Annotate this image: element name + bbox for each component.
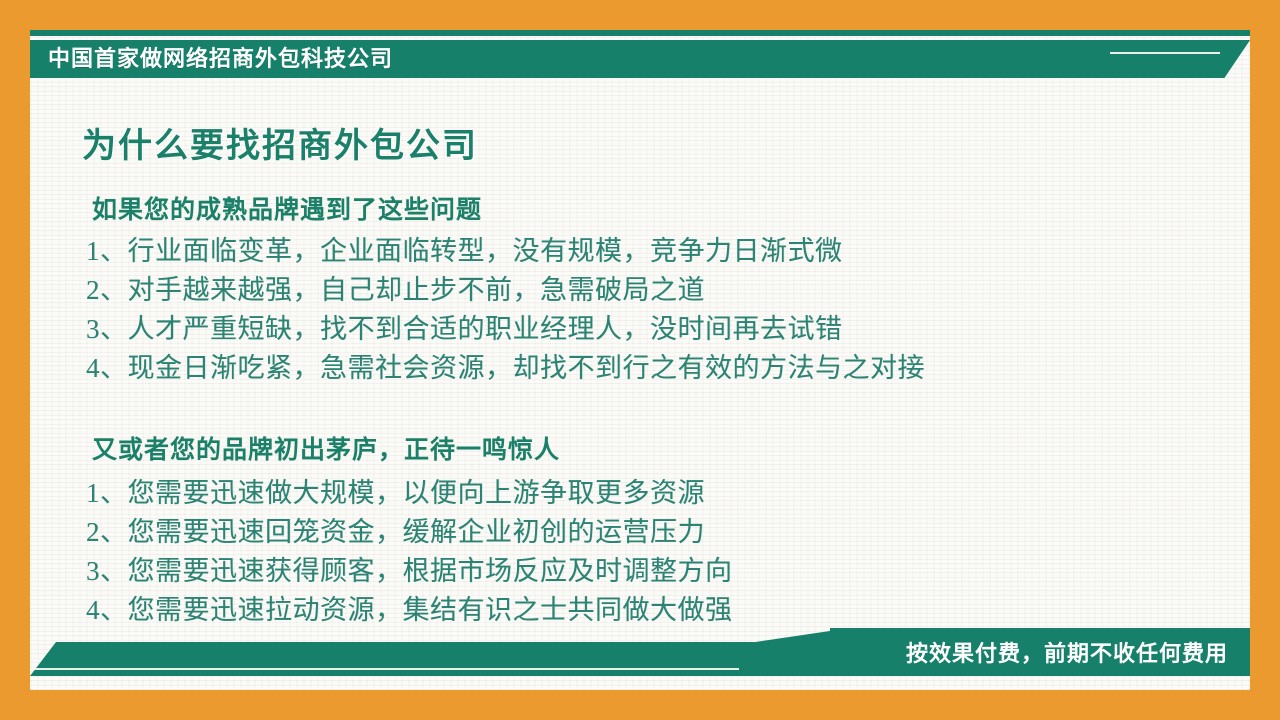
list-item: 1、行业面临变革，企业面临转型，没有规模，竞争力日渐式微	[86, 232, 925, 271]
list-item: 4、现金日渐吃紧，急需社会资源，却找不到行之有效的方法与之对接	[86, 349, 925, 388]
header-main-bar-slant	[1170, 40, 1250, 78]
section-heading-mature-brand: 如果您的成熟品牌遇到了这些问题	[92, 190, 482, 226]
list-item: 1、您需要迅速做大规模，以便向上游争取更多资源	[86, 474, 733, 513]
footer-tagline-text: 按效果付费，前期不收任何费用	[906, 636, 1228, 668]
list-item: 2、您需要迅速回笼资金，缓解企业初创的运营压力	[86, 513, 733, 552]
content-panel: 中国首家做网络招商外包科技公司 为什么要找招商外包公司 如果您的成熟品牌遇到了这…	[30, 30, 1250, 690]
company-badge-text: 中国首家做网络招商外包科技公司	[48, 39, 393, 79]
header-thin-stripe-slant	[1180, 30, 1250, 36]
header-banner: 中国首家做网络招商外包科技公司	[30, 30, 1250, 92]
list-item: 3、您需要迅速获得顾客，根据市场反应及时调整方向	[86, 552, 733, 591]
problem-list-mature-brand: 1、行业面临变革，企业面临转型，没有规模，竞争力日渐式微 2、对手越来越强，自己…	[86, 232, 925, 388]
list-item: 4、您需要迅速拉动资源，集结有识之士共同做大做强	[86, 591, 733, 630]
list-item: 3、人才严重短缺，找不到合适的职业经理人，没时间再去试错	[86, 310, 925, 349]
header-thin-stripe	[30, 30, 1250, 36]
footer-banner: 按效果付费，前期不收任何费用	[30, 628, 1250, 690]
page-title: 为什么要找招商外包公司	[82, 118, 478, 167]
section-heading-new-brand: 又或者您的品牌初出茅庐，正待一鸣惊人	[92, 430, 560, 466]
slide-root: 中国首家做网络招商外包科技公司 为什么要找招商外包公司 如果您的成熟品牌遇到了这…	[0, 0, 1280, 720]
footer-accent-line	[34, 668, 739, 670]
need-list-new-brand: 1、您需要迅速做大规模，以便向上游争取更多资源 2、您需要迅速回笼资金，缓解企业…	[86, 474, 733, 630]
header-accent-line	[1110, 52, 1220, 54]
list-item: 2、对手越来越强，自己却止步不前，急需破局之道	[86, 271, 925, 310]
